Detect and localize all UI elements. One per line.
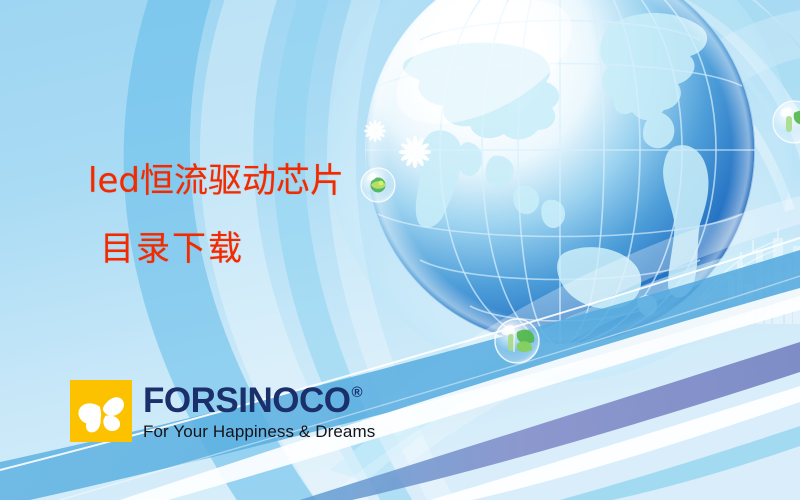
headline-line-2: 目录下载 (100, 232, 344, 267)
forsinoco-pinwheel-mark (70, 380, 132, 442)
headline-line-1: led恒流驱动芯片 (88, 164, 344, 199)
pinwheel-petals-icon (70, 380, 132, 442)
logo-text-block: FORSINOCO® For Your Happiness & Dreams (143, 383, 375, 440)
logo-tagline: For Your Happiness & Dreams (143, 423, 375, 440)
bubble-leaf-icon (495, 319, 539, 363)
bubble-globe-icon (361, 168, 395, 202)
registered-trademark-symbol: ® (351, 385, 362, 400)
logo-wordmark-text: FORSINOCO (143, 383, 350, 418)
company-logo: FORSINOCO® For Your Happiness & Dreams (70, 380, 375, 442)
headline-block: led恒流驱动芯片 目录下载 (88, 164, 344, 266)
logo-wordmark: FORSINOCO® (143, 383, 375, 418)
slide-canvas: led恒流驱动芯片 目录下载 FORSINOCO® For Your Happi… (0, 0, 800, 500)
